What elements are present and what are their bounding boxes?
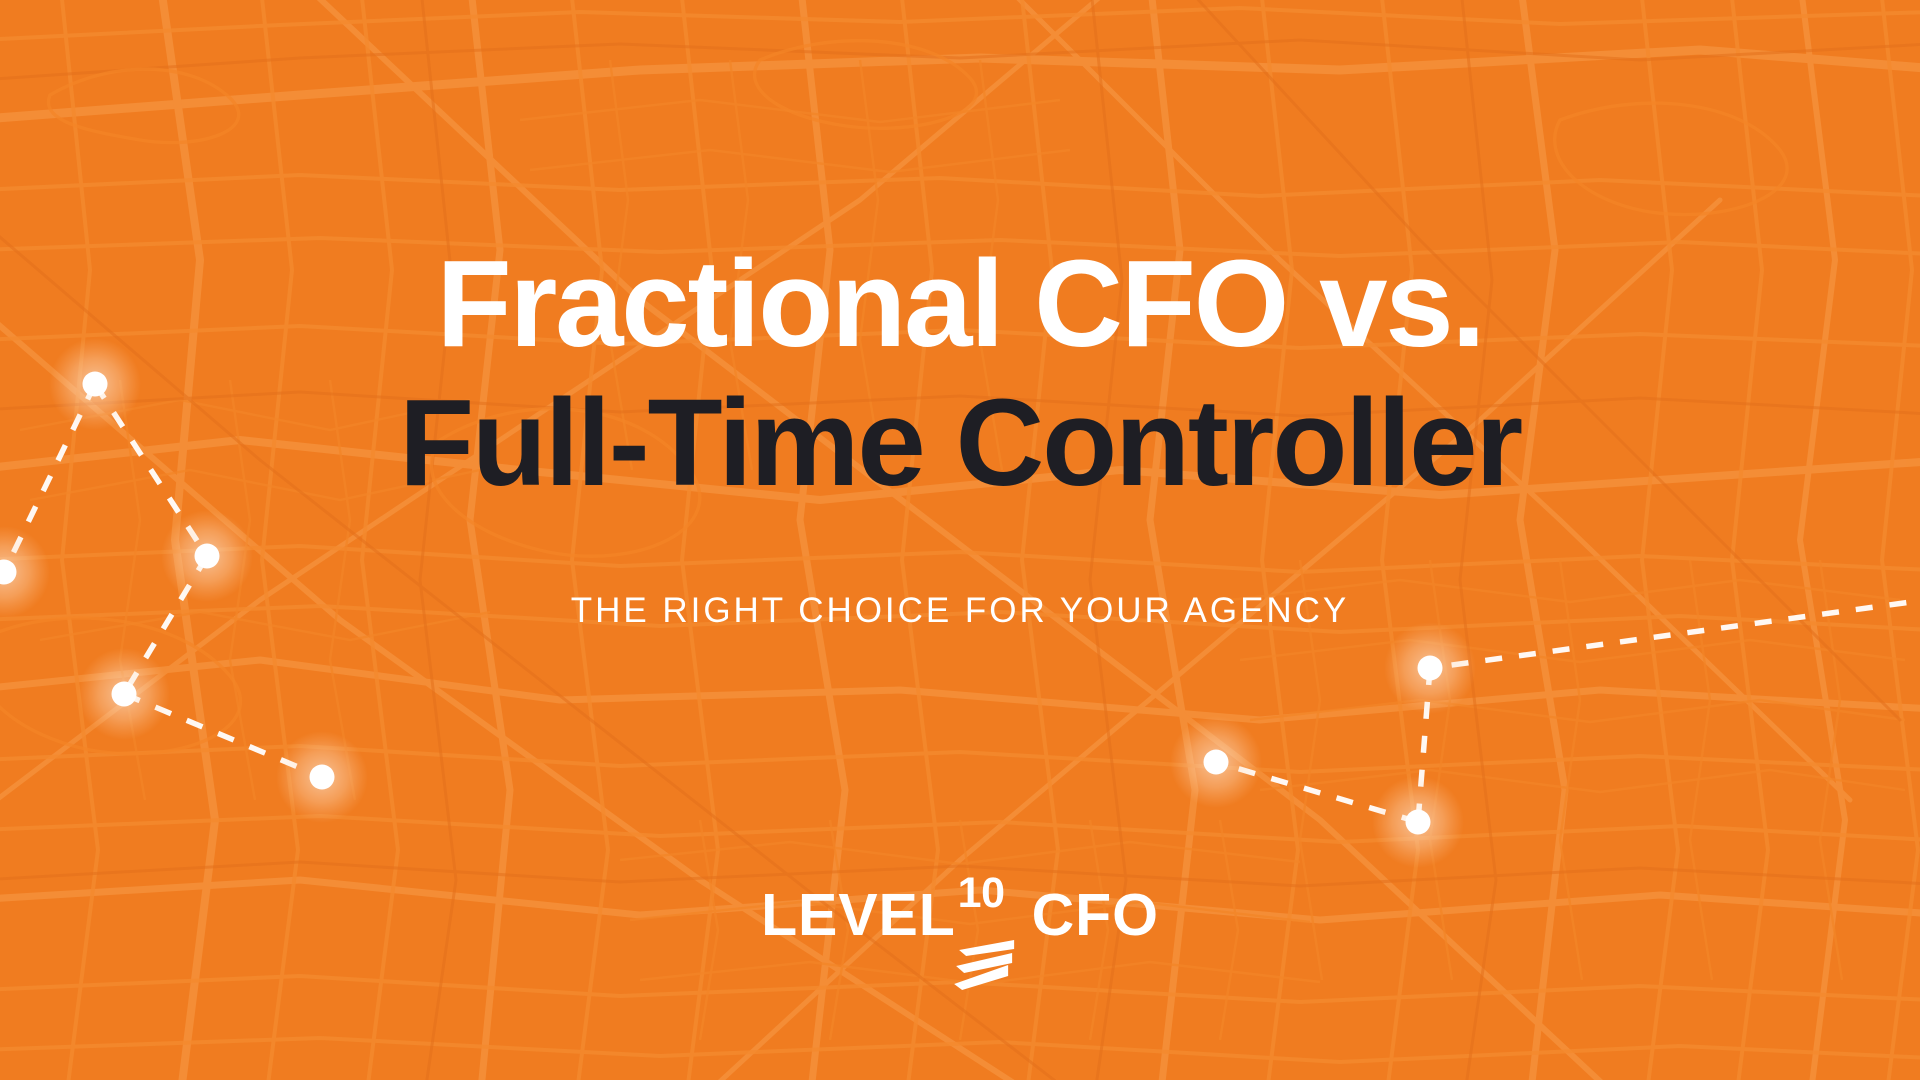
headline-line-2: Full-Time Controller (399, 381, 1521, 506)
poster-canvas: Fractional CFO vs. Full-Time Controller … (0, 0, 1920, 1080)
headline-line-1: Fractional CFO vs. (437, 242, 1484, 367)
level-10-cfo-logo: LEVEL 10 CFO (761, 886, 1159, 958)
logo-fan-rays-icon (954, 928, 1026, 992)
logo-word-level: LEVEL (761, 886, 956, 945)
logo-ten-mark: 10 (958, 872, 1020, 958)
logo-word-cfo: CFO (1032, 886, 1159, 945)
logo-word-ten: 10 (958, 872, 1020, 915)
subtitle: THE RIGHT CHOICE FOR YOUR AGENCY (571, 591, 1349, 631)
